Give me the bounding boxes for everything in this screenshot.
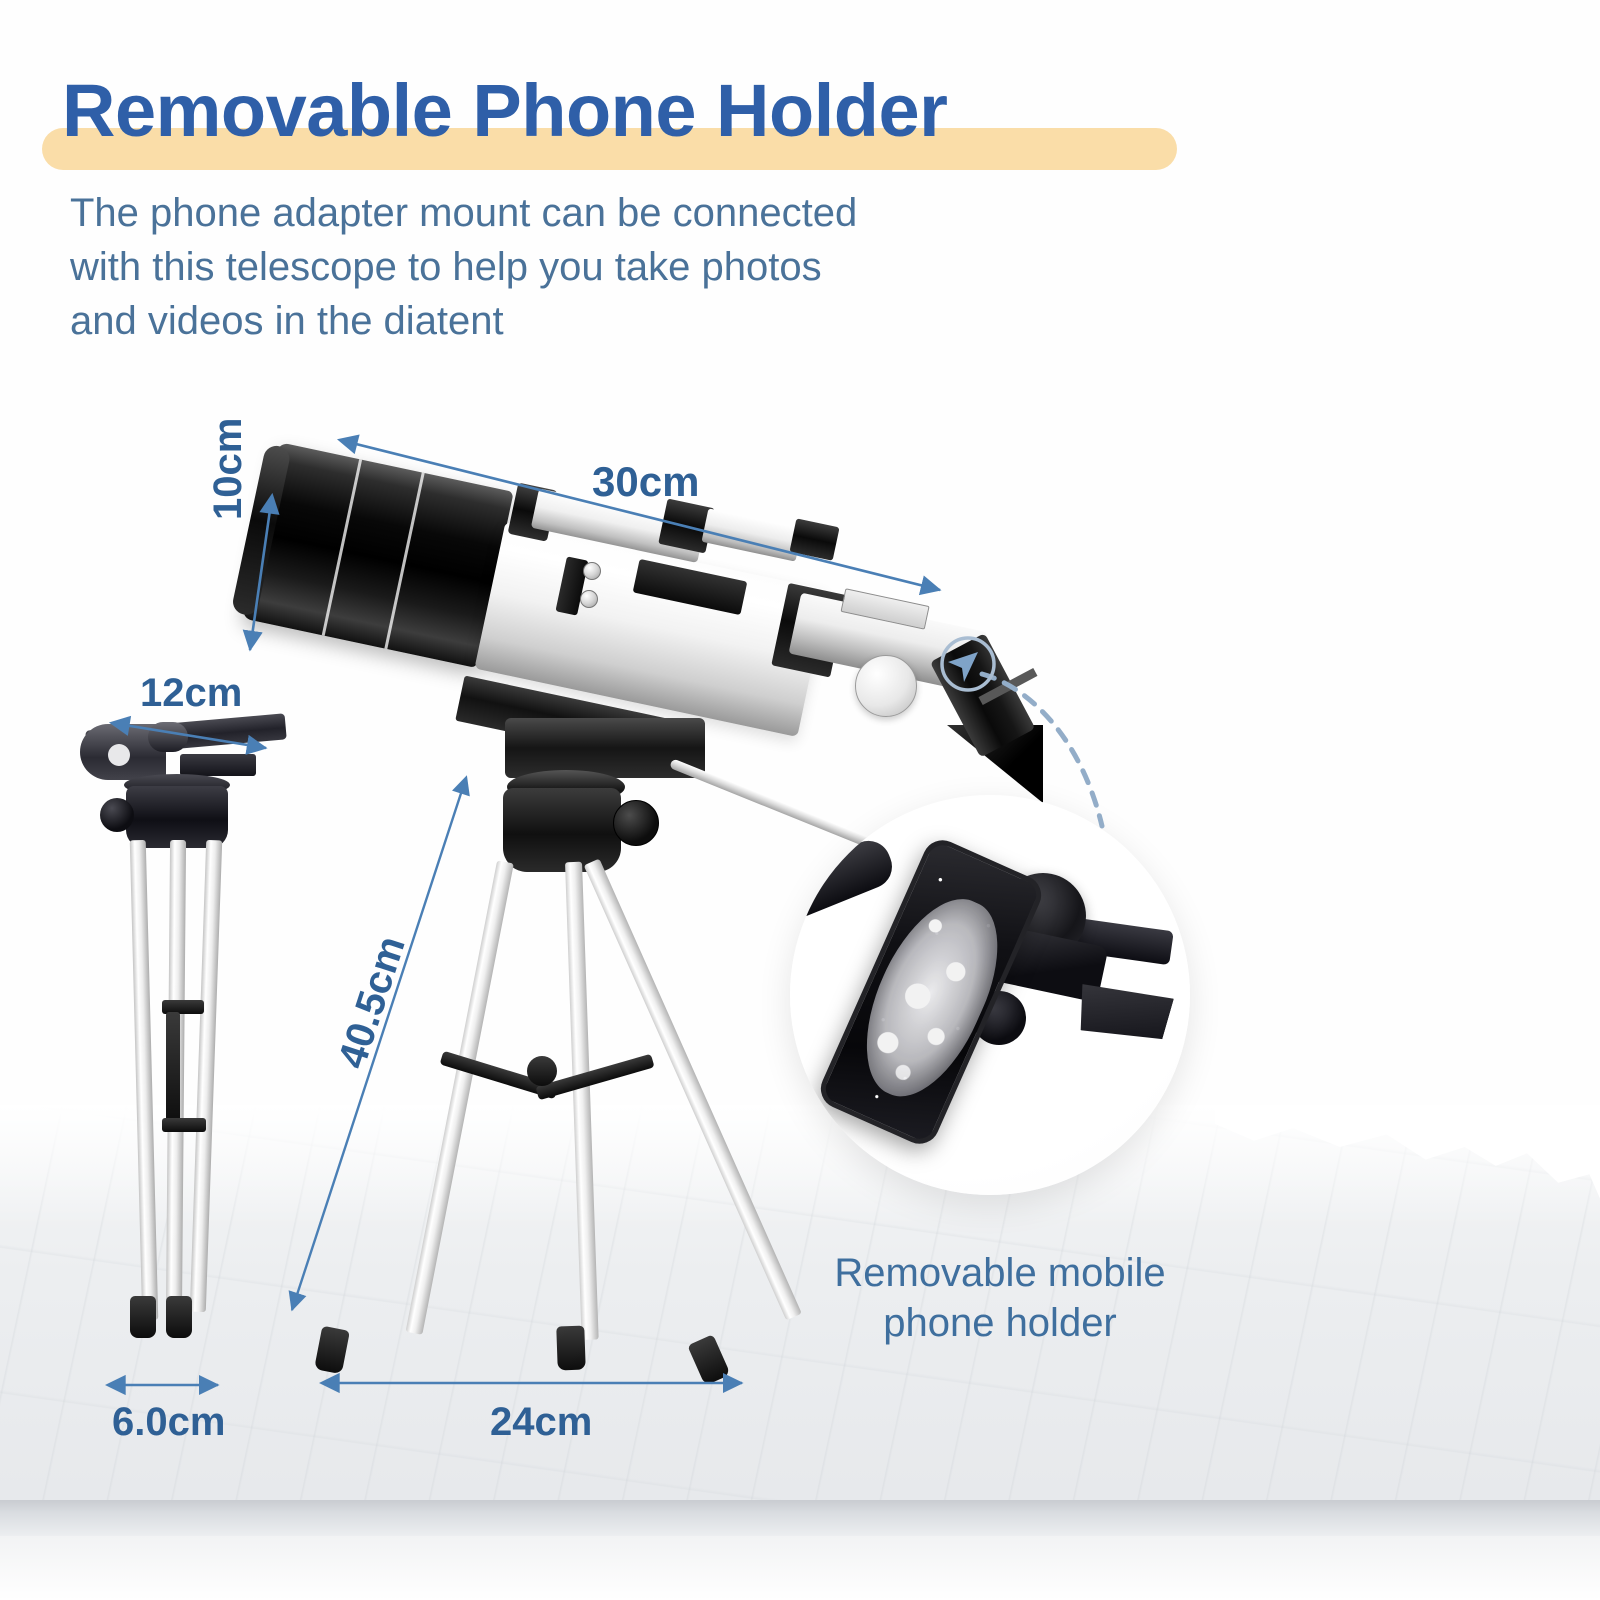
focuser-knob (855, 655, 917, 717)
table-drop-shadow (0, 1536, 1600, 1600)
tripod-head-roller (148, 722, 188, 752)
folded-tripod-foot-1 (130, 1296, 156, 1338)
subtitle-line-3: and videos in the diatent (70, 294, 1050, 348)
folded-tripod-leg-3 (190, 840, 222, 1312)
page-title: Removable Phone Holder (62, 72, 947, 150)
inset-caption: Removable mobile phone holder (760, 1248, 1240, 1348)
subtitle-line-2: with this telescope to help you take pho… (70, 240, 1050, 294)
inset-caption-line-1: Removable mobile (760, 1248, 1240, 1298)
tripod-brace-bottom (162, 1118, 206, 1132)
finderscope-eyepiece (789, 518, 839, 560)
curved-pointer-arrow (930, 630, 1190, 860)
leg-spreader-hub (527, 1056, 557, 1086)
cursor-arrow-icon (948, 652, 978, 682)
tripod-head-hole (108, 744, 130, 766)
holder-base-pad (1070, 973, 1174, 1052)
tripod-leg-center (565, 862, 599, 1340)
head-center-column (503, 788, 621, 872)
objective-ring-1 (322, 459, 362, 636)
dimension-label-30cm: 30cm (592, 458, 699, 506)
product-infographic: Removable Phone Holder The phone adapter… (0, 0, 1600, 1600)
dimension-label-6cm: 6.0cm (112, 1400, 225, 1445)
bracket-screw-1 (583, 562, 601, 580)
dimension-label-24cm: 24cm (490, 1400, 592, 1445)
finderscope-rear-tube (701, 508, 802, 561)
table-front-edge (0, 1500, 1600, 1536)
page-title-wrap: Removable Phone Holder (62, 72, 947, 150)
dimension-label-10cm: 10cm (206, 418, 251, 520)
objective-lens-housing (242, 442, 514, 668)
inset-caption-line-2: phone holder (760, 1298, 1240, 1348)
subtitle-text: The phone adapter mount can be connected… (70, 186, 1050, 348)
tripod-leg-left (406, 860, 514, 1334)
subtitle-line-1: The phone adapter mount can be connected (70, 186, 1050, 240)
objective-ring-2 (384, 472, 424, 649)
folded-tripod-leg-1 (130, 840, 159, 1320)
tripod-brace-vert (166, 1012, 180, 1127)
header-block: Removable Phone Holder The phone adapter… (0, 0, 1600, 360)
dashed-curve-path (982, 674, 1102, 826)
head-tension-knob (613, 800, 659, 846)
tripod-lock-knob (100, 798, 134, 832)
bracket-screw-2 (580, 590, 598, 608)
dimension-label-12cm: 12cm (140, 671, 242, 716)
tripod-leg-collar (126, 786, 228, 848)
tripod-foot-center (556, 1326, 586, 1371)
folded-tripod-foot-2 (166, 1296, 192, 1338)
